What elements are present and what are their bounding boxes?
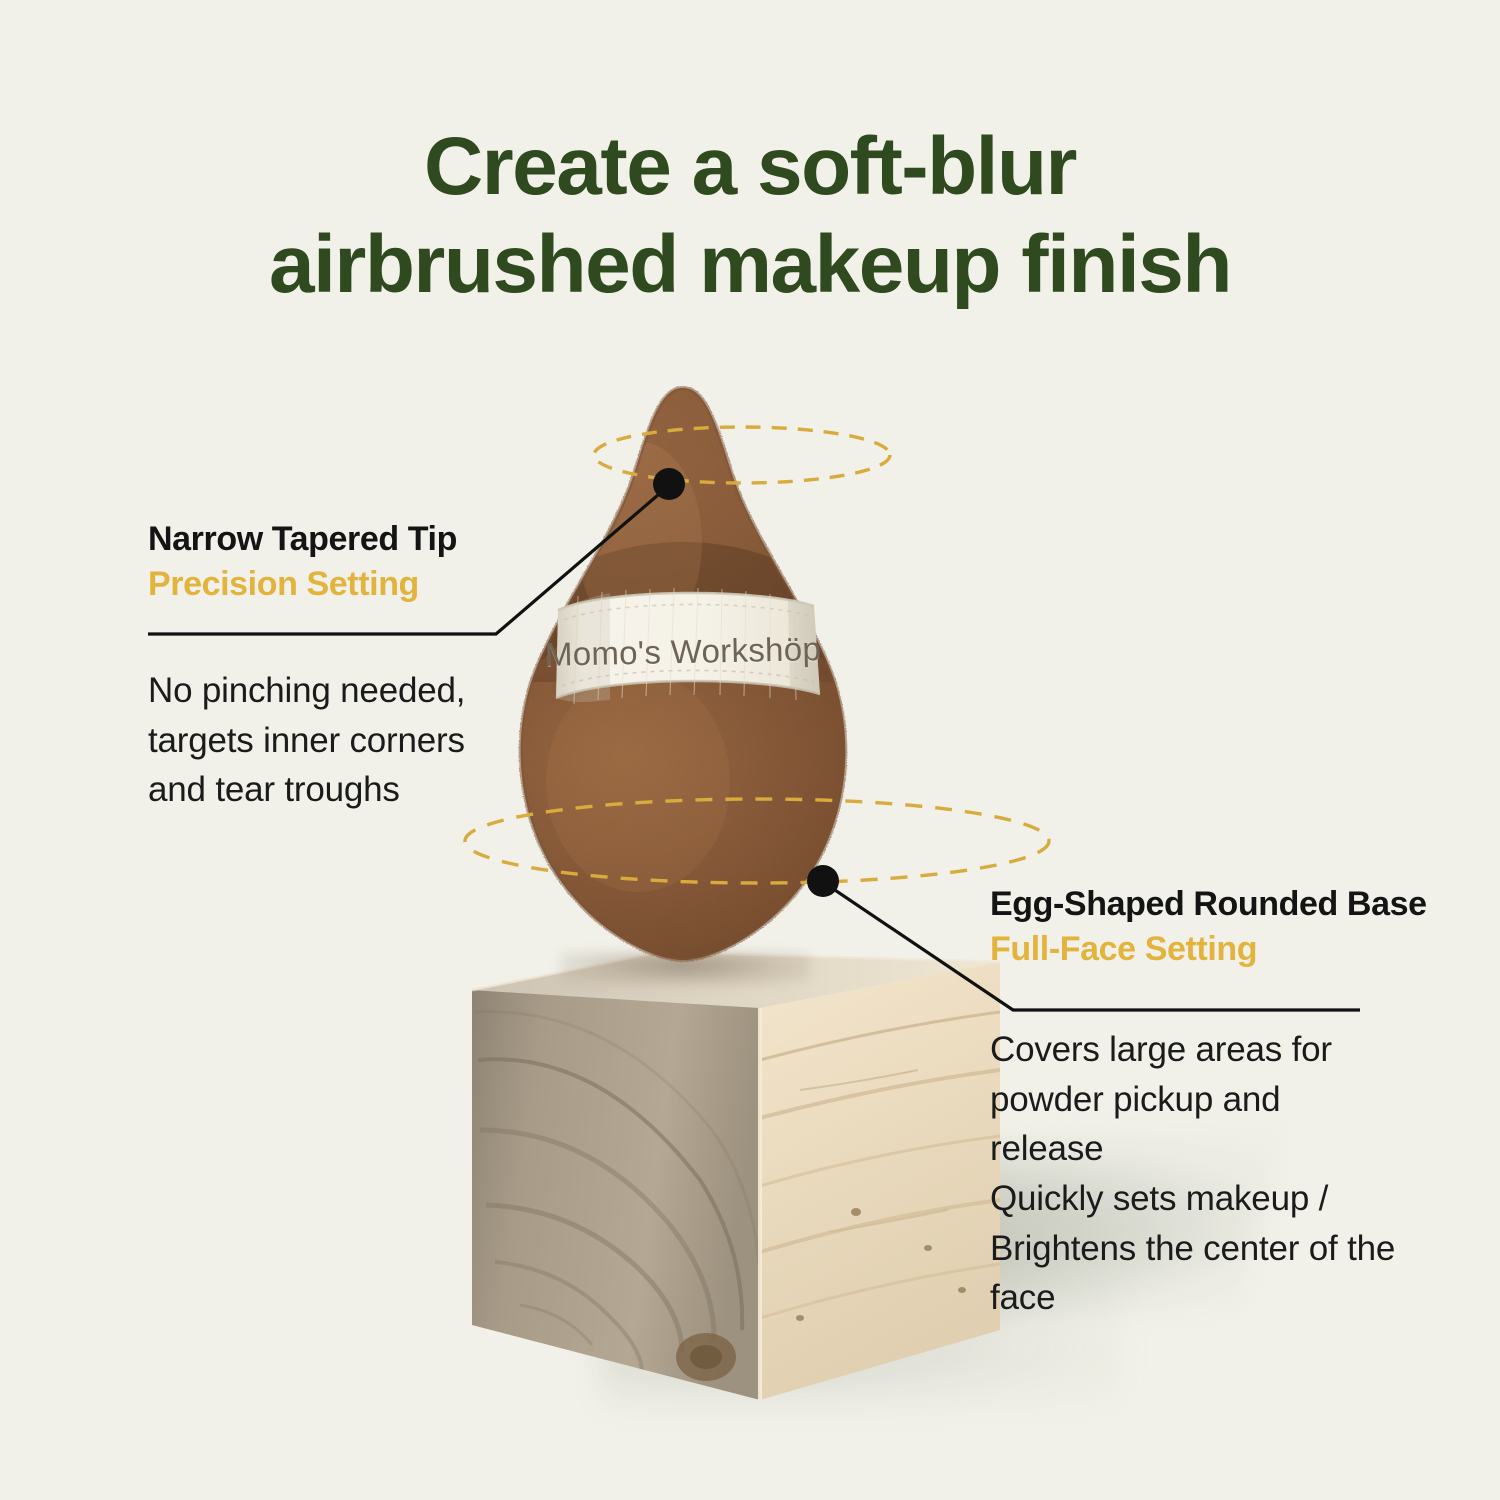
callout-right-body-line: Covers large areas for — [990, 1025, 1490, 1075]
block-knot-core — [690, 1345, 722, 1369]
page-title-line-2: airbrushed makeup finish — [0, 216, 1500, 314]
callout-right-body-line: powder pickup and — [990, 1075, 1490, 1125]
callout-dot-top — [653, 468, 685, 500]
block-left-face — [472, 990, 760, 1400]
sponge-ribbon-band — [556, 588, 820, 704]
callout-right-title: Egg-Shaped Rounded Base — [990, 885, 1490, 924]
callout-right-body-line: release — [990, 1124, 1490, 1174]
callout-left-body: No pinching needed, targets inner corner… — [148, 666, 548, 815]
dashed-ring-top — [594, 427, 890, 483]
dashed-ring-bottom — [465, 799, 1049, 883]
callout-right-body-line: Brightens the center of the — [990, 1224, 1490, 1274]
block-right-face — [760, 962, 1000, 1400]
page-title-line-1: Create a soft-blur — [424, 121, 1076, 212]
block-grain-lines — [760, 1012, 1000, 1318]
sponge-contact-shadow — [560, 952, 810, 986]
infographic-page: Create a soft-blur airbrushed makeup fin… — [0, 0, 1500, 1500]
callout-left-body-line: No pinching needed, — [148, 666, 548, 716]
callout-left-body-line: and tear troughs — [148, 765, 548, 815]
callout-right-subtitle: Full-Face Setting — [990, 930, 1490, 969]
block-top-edge — [472, 952, 1000, 990]
makeup-sponge — [498, 382, 868, 978]
block-tree-rings — [474, 1012, 760, 1370]
callout-left-subtitle: Precision Setting — [148, 565, 548, 604]
block-top-face — [472, 952, 1000, 1008]
sponge-edge — [521, 388, 846, 960]
callout-dot-bottom — [807, 865, 839, 897]
callout-left-title: Narrow Tapered Tip — [148, 520, 548, 559]
callout-narrow-tapered-tip: Narrow Tapered Tip Precision Setting No … — [148, 520, 548, 815]
callout-left-body-line: targets inner corners — [148, 716, 548, 766]
callout-right-body-line: face — [990, 1273, 1490, 1323]
callout-right-body-line: Quickly sets makeup / — [990, 1174, 1490, 1224]
callout-right-body: Covers large areas for powder pickup and… — [990, 1025, 1490, 1323]
brand-label: Momo's Workshöp — [498, 629, 869, 675]
callout-egg-shaped-rounded-base: Egg-Shaped Rounded Base Full-Face Settin… — [990, 885, 1490, 1323]
block-knot — [676, 1333, 736, 1381]
block-specks — [796, 1208, 966, 1321]
page-title: Create a soft-blur airbrushed makeup fin… — [0, 118, 1500, 315]
